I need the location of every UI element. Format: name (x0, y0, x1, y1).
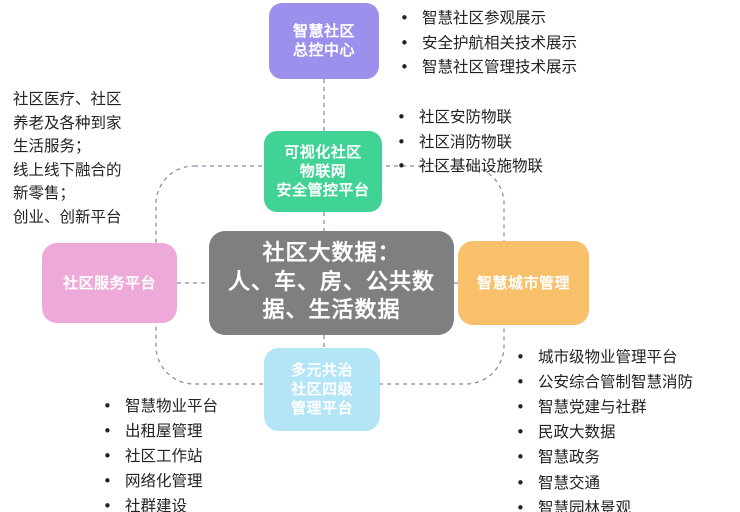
list-item-label: 智慧社区参观展示 (422, 6, 546, 30)
list-item: •智慧政务 (516, 445, 693, 470)
bullet-icon: • (397, 106, 419, 130)
list-item-label: 社群建设 (125, 494, 187, 512)
bullet-icon: • (397, 155, 419, 179)
node-control-center-label: 智慧社区 总控中心 (293, 22, 355, 60)
bullet-icon: • (516, 471, 538, 495)
node-governance-platform-label: 多元共治 社区四级 管理平台 (291, 361, 353, 417)
list-item: •公安综合管制智慧消防 (516, 370, 693, 395)
list-item: •智慧园林景观 (516, 496, 693, 512)
list-item: •智慧社区参观展示 (400, 6, 577, 31)
list-item: •民政大数据 (516, 420, 693, 445)
bullet-icon: • (516, 345, 538, 369)
list-item: •智慧物业平台 (103, 394, 218, 419)
node-big-data-center[interactable]: 社区大数据： 人、车、房、公共数 据、生活数据 (209, 231, 454, 335)
list-item: •智慧交通 (516, 471, 693, 496)
city-management-item-list: •城市级物业管理平台•公安综合管制智慧消防•智慧党建与社群•民政大数据•智慧政务… (516, 345, 693, 512)
list-item: •社区消防物联 (397, 130, 543, 155)
control-center-item-list: •智慧社区参观展示•安全护航相关技术展示•智慧社区管理技术展示 (400, 6, 577, 80)
bullet-icon: • (516, 420, 538, 444)
governance-item-list: •智慧物业平台•出租屋管理•社区工作站•网络化管理•社群建设 (103, 394, 218, 512)
list-item-label: 智慧物业平台 (125, 394, 218, 419)
list-item-label: 社区消防物联 (419, 130, 512, 154)
bullet-icon: • (516, 445, 538, 469)
list-item-label: 民政大数据 (538, 420, 616, 445)
bullet-icon: • (516, 496, 538, 512)
list-item: •智慧党建与社群 (516, 395, 693, 420)
bullet-icon: • (516, 395, 538, 419)
list-item: •城市级物业管理平台 (516, 345, 693, 370)
list-item-label: 城市级物业管理平台 (538, 345, 678, 370)
node-big-data-center-label: 社区大数据： 人、车、房、公共数 据、生活数据 (228, 240, 435, 326)
list-item-label: 智慧交通 (538, 471, 600, 496)
list-item: •智慧社区管理技术展示 (400, 55, 577, 80)
node-control-center[interactable]: 智慧社区 总控中心 (269, 3, 379, 79)
list-item-label: 智慧园林景观 (538, 496, 631, 512)
list-item: •社区基础设施物联 (397, 154, 543, 179)
bullet-icon: • (400, 7, 422, 31)
iot-platform-item-list: •社区安防物联•社区消防物联•社区基础设施物联 (397, 105, 543, 179)
list-item: •网络化管理 (103, 469, 218, 494)
list-item-label: 安全护航相关技术展示 (422, 31, 577, 55)
bullet-icon: • (103, 419, 125, 443)
bullet-icon: • (516, 370, 538, 394)
bullet-icon: • (103, 394, 125, 418)
bullet-icon: • (103, 469, 125, 493)
node-service-platform[interactable]: 社区服务平台 (42, 243, 177, 323)
list-item-label: 社区安防物联 (419, 105, 512, 129)
list-item-label: 社区基础设施物联 (419, 154, 543, 178)
diagram-canvas: 智慧社区 总控中心 可视化社区 物联网 安全管控平台 社区服务平台 社区大数据：… (0, 0, 740, 512)
bullet-icon: • (397, 131, 419, 155)
node-iot-platform-label: 可视化社区 物联网 安全管控平台 (276, 143, 369, 199)
node-city-management[interactable]: 智慧城市管理 (458, 241, 589, 325)
node-city-management-label: 智慧城市管理 (477, 274, 570, 293)
list-item-label: 社区工作站 (125, 444, 203, 469)
node-governance-platform[interactable]: 多元共治 社区四级 管理平台 (264, 348, 380, 431)
list-item-label: 出租屋管理 (125, 419, 203, 444)
node-service-platform-label: 社区服务平台 (63, 274, 156, 293)
list-item: •社区安防物联 (397, 105, 543, 130)
bullet-icon: • (103, 494, 125, 512)
list-item: •社区工作站 (103, 444, 218, 469)
list-item-label: 智慧政务 (538, 445, 600, 470)
list-item-label: 公安综合管制智慧消防 (538, 370, 693, 395)
list-item-label: 网络化管理 (125, 469, 203, 494)
list-item: •社群建设 (103, 494, 218, 512)
list-item: •出租屋管理 (103, 419, 218, 444)
list-item-label: 智慧党建与社群 (538, 395, 647, 420)
list-item-label: 智慧社区管理技术展示 (422, 55, 577, 79)
bullet-icon: • (400, 56, 422, 80)
service-platform-description: 社区医疗、社区 养老及各种到家 生活服务； 线上线下融合的 新零售； 创业、创新… (13, 88, 203, 229)
bullet-icon: • (400, 32, 422, 56)
node-iot-platform[interactable]: 可视化社区 物联网 安全管控平台 (264, 131, 382, 212)
list-item: •安全护航相关技术展示 (400, 31, 577, 56)
bullet-icon: • (103, 444, 125, 468)
